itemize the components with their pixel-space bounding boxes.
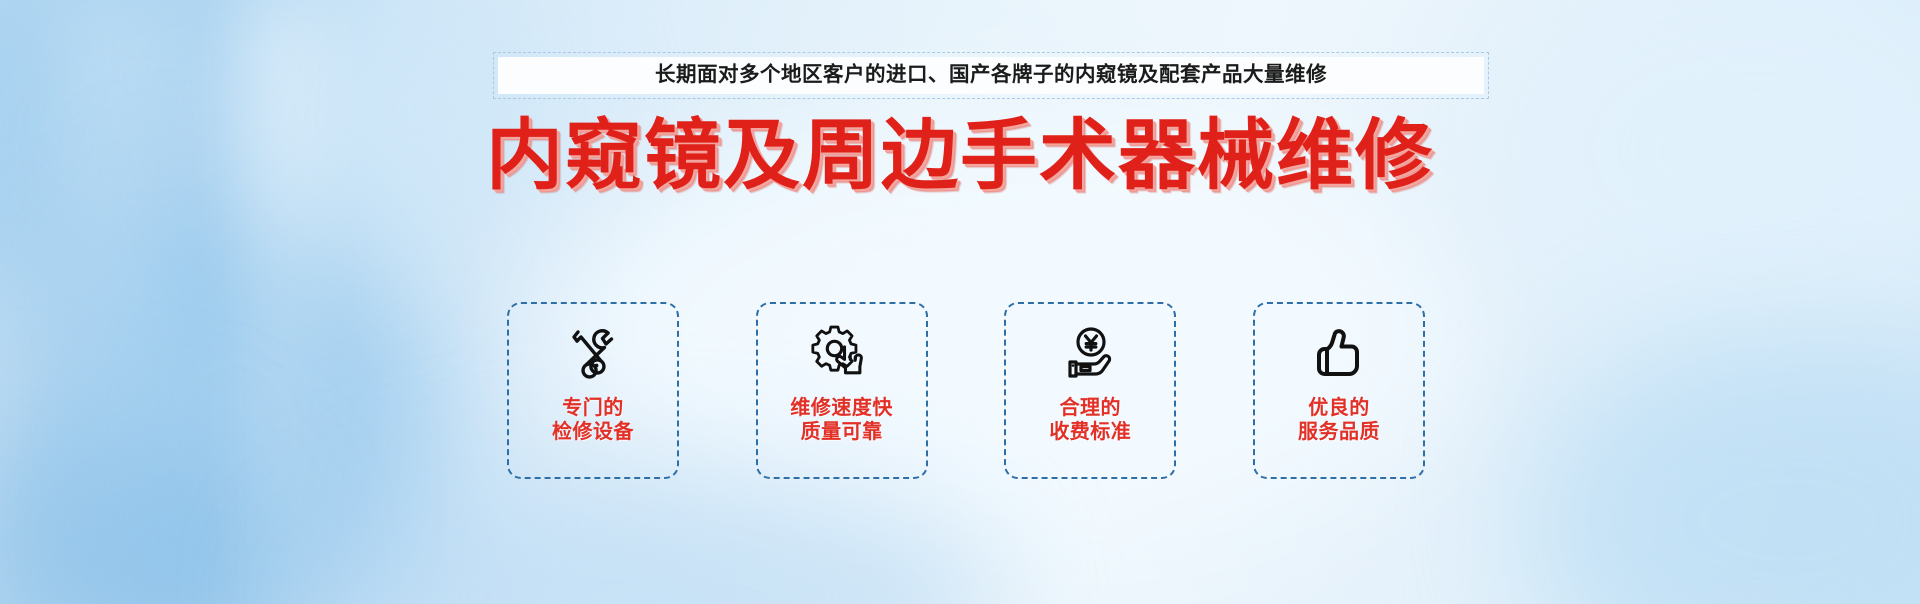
feature-label-line2: 检修设备 <box>552 421 634 445</box>
tagline-dashed-frame: 长期面对多个地区客户的进口、国产各牌子的内窥镜及配套产品大量维修 <box>493 52 1489 99</box>
gear-hand-click-icon <box>810 321 874 387</box>
feature-card-label: 维修速度快 质量可靠 <box>790 397 893 444</box>
tagline-box: 长期面对多个地区客户的进口、国产各牌子的内窥镜及配套产品大量维修 <box>498 57 1484 94</box>
screwdriver-wrench-icon <box>561 321 625 387</box>
feature-card-equipment[interactable]: 专门的 检修设备 <box>507 302 679 479</box>
headline-container: 内窥镜及周边手术器械维修 <box>0 118 1920 195</box>
hand-holding-yuan-coin-icon <box>1058 321 1122 387</box>
feature-label-line2: 质量可靠 <box>790 421 893 445</box>
feature-card-list: 专门的 检修设备 维修速度快 质量可靠 <box>507 302 1425 479</box>
feature-label-line1: 专门的 <box>552 397 634 421</box>
feature-card-pricing[interactable]: 合理的 收费标准 <box>1004 302 1176 479</box>
feature-card-label: 合理的 收费标准 <box>1049 397 1131 444</box>
feature-card-label: 优良的 服务品质 <box>1298 397 1380 444</box>
promo-banner: 长期面对多个地区客户的进口、国产各牌子的内窥镜及配套产品大量维修 内窥镜及周边手… <box>0 0 1920 604</box>
feature-label-line1: 优良的 <box>1298 397 1380 421</box>
feature-card-speed-quality[interactable]: 维修速度快 质量可靠 <box>756 302 928 479</box>
feature-label-line2: 服务品质 <box>1298 421 1380 445</box>
feature-label-line1: 合理的 <box>1049 397 1131 421</box>
page-title: 内窥镜及周边手术器械维修 <box>486 118 1434 195</box>
feature-label-line2: 收费标准 <box>1049 421 1131 445</box>
thumbs-up-icon <box>1307 321 1371 387</box>
feature-card-service-quality[interactable]: 优良的 服务品质 <box>1253 302 1425 479</box>
tagline-text: 长期面对多个地区客户的进口、国产各牌子的内窥镜及配套产品大量维修 <box>655 65 1327 86</box>
banner-content: 长期面对多个地区客户的进口、国产各牌子的内窥镜及配套产品大量维修 内窥镜及周边手… <box>0 0 1920 604</box>
feature-card-label: 专门的 检修设备 <box>552 397 634 444</box>
feature-label-line1: 维修速度快 <box>790 397 893 421</box>
